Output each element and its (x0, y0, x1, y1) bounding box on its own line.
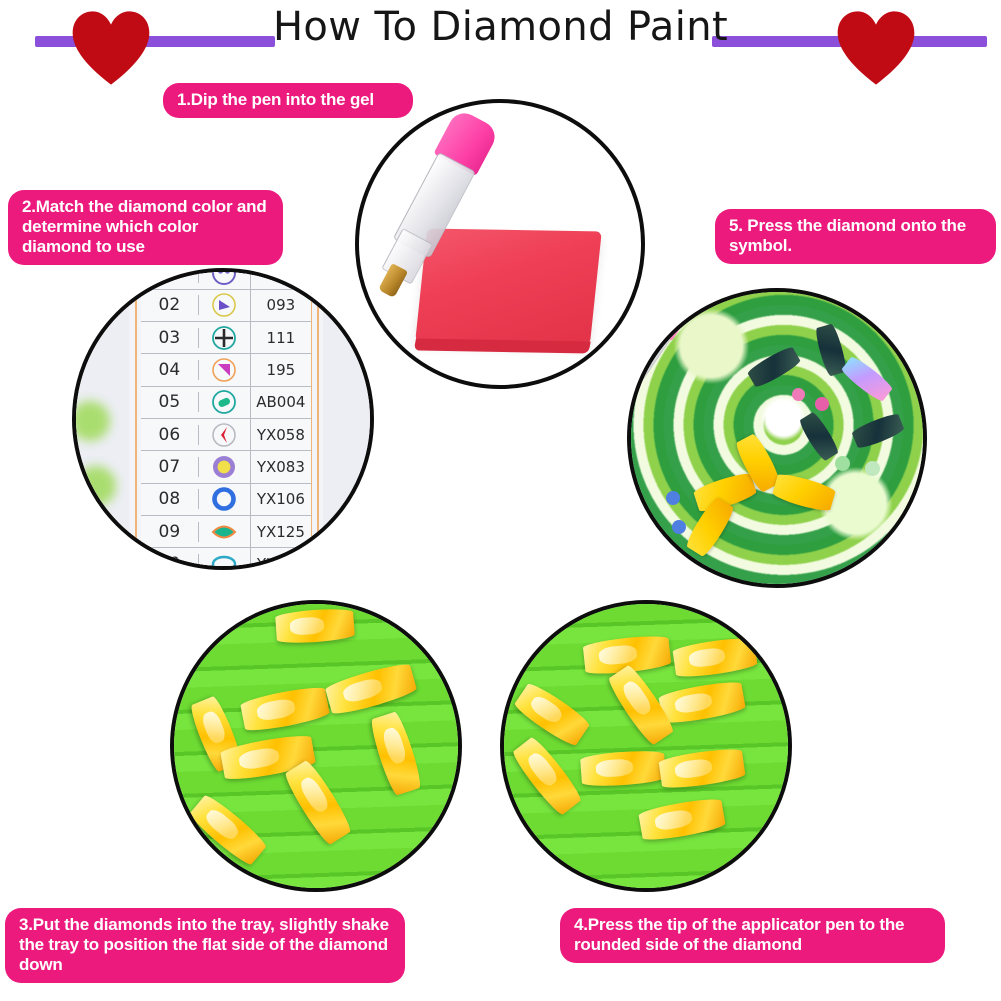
step-photo-5-pressing-diamond-onto-symbol (627, 288, 927, 588)
color-legend-table: 01 02602 09303 11104 19505 AB00406 YX058… (141, 268, 312, 570)
paper-stripe (135, 272, 137, 566)
step-photo-2-color-legend-chart: 01 02602 09303 11104 19505 AB00406 YX058… (72, 268, 374, 570)
blue-symbol-dot (666, 491, 680, 505)
step-photo-1-pen-dipping-into-gel (355, 99, 645, 389)
page-title: How To Diamond Paint (0, 4, 1001, 50)
legend-row: 06 YX058 (141, 419, 312, 451)
legend-row-number: 01 (141, 268, 199, 283)
pen-sleeve (627, 378, 630, 426)
double-dot-circle-icon (199, 268, 251, 289)
legend-row-code: YX125 (251, 523, 312, 541)
step-label-3: 3.Put the diamonds into the tray, slight… (5, 908, 405, 983)
pink-dot-gem (815, 397, 829, 411)
legend-row-number: 06 (141, 425, 199, 445)
step-photo-4-pen-picking-up-diamond (500, 600, 792, 892)
leaf-shape-icon (199, 516, 251, 547)
page-header: How To Diamond Paint (0, 0, 1001, 72)
legend-row: 10YX130 (141, 548, 312, 570)
step-label-4: 4.Press the tip of the applicator pen to… (560, 908, 945, 963)
paper-stripe (317, 272, 319, 566)
legend-row: 05 AB004 (141, 387, 312, 419)
legend-row-number: 03 (141, 328, 199, 348)
legend-row-code: YX130 (251, 555, 312, 570)
blue-symbol-dot (672, 520, 686, 534)
step-label-5: 5. Press the diamond onto the symbol. (715, 209, 996, 264)
legend-row-code: YX083 (251, 458, 312, 476)
capsule-circle-icon (199, 387, 251, 418)
legend-row-number: 08 (141, 489, 199, 509)
legend-row-number: 04 (141, 360, 199, 380)
left-chevron-circle-icon (199, 419, 251, 450)
legend-row-number: 07 (141, 457, 199, 477)
filled-dot-circle-icon (199, 451, 251, 482)
legend-row-code: 111 (251, 329, 312, 347)
legend-row: 04 195 (141, 354, 312, 386)
step-label-2: 2.Match the diamond color and determine … (8, 190, 283, 265)
legend-row: 08YX106 (141, 484, 312, 516)
legend-row-number: 05 (141, 392, 199, 412)
legend-row: 02 093 (141, 290, 312, 322)
plus-circle-icon (199, 322, 251, 353)
legend-row-number: 02 (141, 295, 199, 315)
legend-row-code: 026 (251, 268, 312, 282)
legend-row: 07YX083 (141, 451, 312, 483)
ring-circle-icon (199, 484, 251, 515)
legend-row: 01 026 (141, 268, 312, 290)
legend-row-code: AB004 (251, 393, 312, 411)
legend-row-number: 09 (141, 522, 199, 542)
step-photo-3-diamonds-in-tray (170, 600, 462, 892)
filled-triangle-circle-icon (199, 290, 251, 321)
gel-pad (415, 228, 601, 344)
legend-row-code: YX106 (251, 490, 312, 508)
oval-circle-icon (199, 548, 251, 570)
pink-dot-gem (792, 388, 805, 401)
legend-row: 09YX125 (141, 516, 312, 548)
green-dot-gem (835, 456, 850, 471)
quarter-wedge-circle-icon (199, 354, 251, 385)
legend-row-code: YX058 (251, 426, 312, 444)
green-dot-gem (865, 461, 880, 476)
legend-row-code: 195 (251, 361, 312, 379)
green-smudge (76, 466, 116, 506)
legend-row-number: 10 (141, 554, 199, 570)
legend-row-code: 093 (251, 296, 312, 314)
applicator-pen (458, 108, 500, 131)
legend-row: 03 111 (141, 322, 312, 354)
